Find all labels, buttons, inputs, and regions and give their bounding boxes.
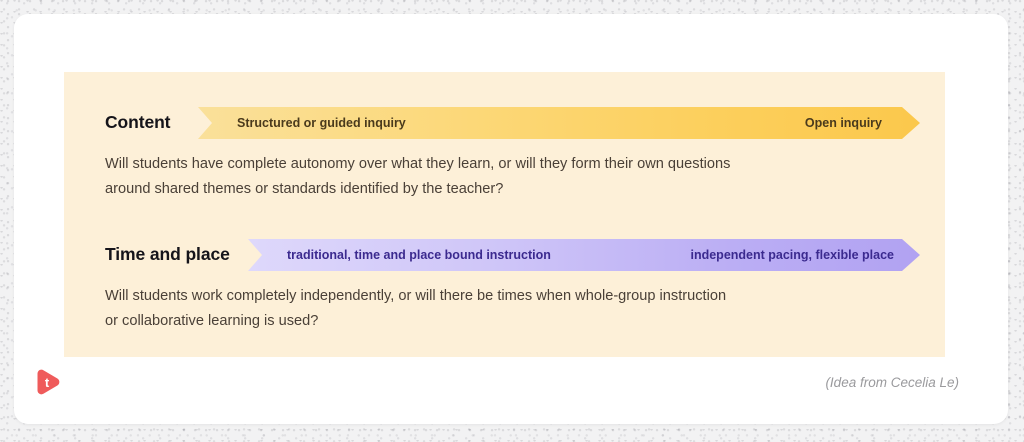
cream-panel: Content Structured or guided inquiry Ope… [64,72,945,357]
row-body-line: Will students work completely independen… [105,284,805,309]
row-content-header: Content Structured or guided inquiry Ope… [64,103,945,143]
svg-text:t: t [45,375,50,390]
row-body-time-and-place: Will students work completely independen… [105,284,805,334]
row-label-time-and-place: Time and place [105,244,230,265]
content-card: Content Structured or guided inquiry Ope… [14,14,1008,424]
row-body-line: Will students have complete autonomy ove… [105,152,805,177]
row-time-header: Time and place traditional, time and pla… [64,235,945,275]
arrow-end-label-content: Open inquiry [805,116,882,130]
row-content: Content Structured or guided inquiry Ope… [64,103,945,143]
play-triangle-logo-icon: t [34,366,66,398]
spectrum-arrow-time-and-place: traditional, time and place bound instru… [248,239,920,271]
row-time-and-place: Time and place traditional, time and pla… [64,235,945,275]
spectrum-arrow-content: Structured or guided inquiry Open inquir… [198,107,920,139]
attribution-text: (Idea from Cecelia Le) [825,375,959,390]
row-body-line: around shared themes or standards identi… [105,177,805,202]
row-body-line: or collaborative learning is used? [105,309,805,334]
row-body-content: Will students have complete autonomy ove… [105,152,805,202]
arrow-start-label-content: Structured or guided inquiry [237,116,406,130]
row-label-content: Content [105,112,170,133]
arrow-start-label-time: traditional, time and place bound instru… [287,248,551,262]
arrow-end-label-time: independent pacing, flexible place [690,248,894,262]
